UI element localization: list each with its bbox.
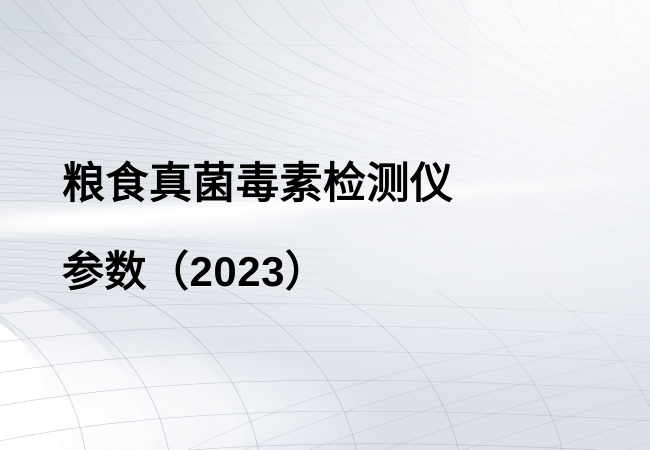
title-banner: 粮食真菌毒素检测仪 参数（2023） — [0, 0, 650, 450]
banner-title-block: 粮食真菌毒素检测仪 参数（2023） — [62, 140, 622, 316]
banner-title-line-1: 粮食真菌毒素检测仪 — [62, 140, 622, 228]
banner-title-line-2: 参数（2023） — [62, 228, 622, 316]
